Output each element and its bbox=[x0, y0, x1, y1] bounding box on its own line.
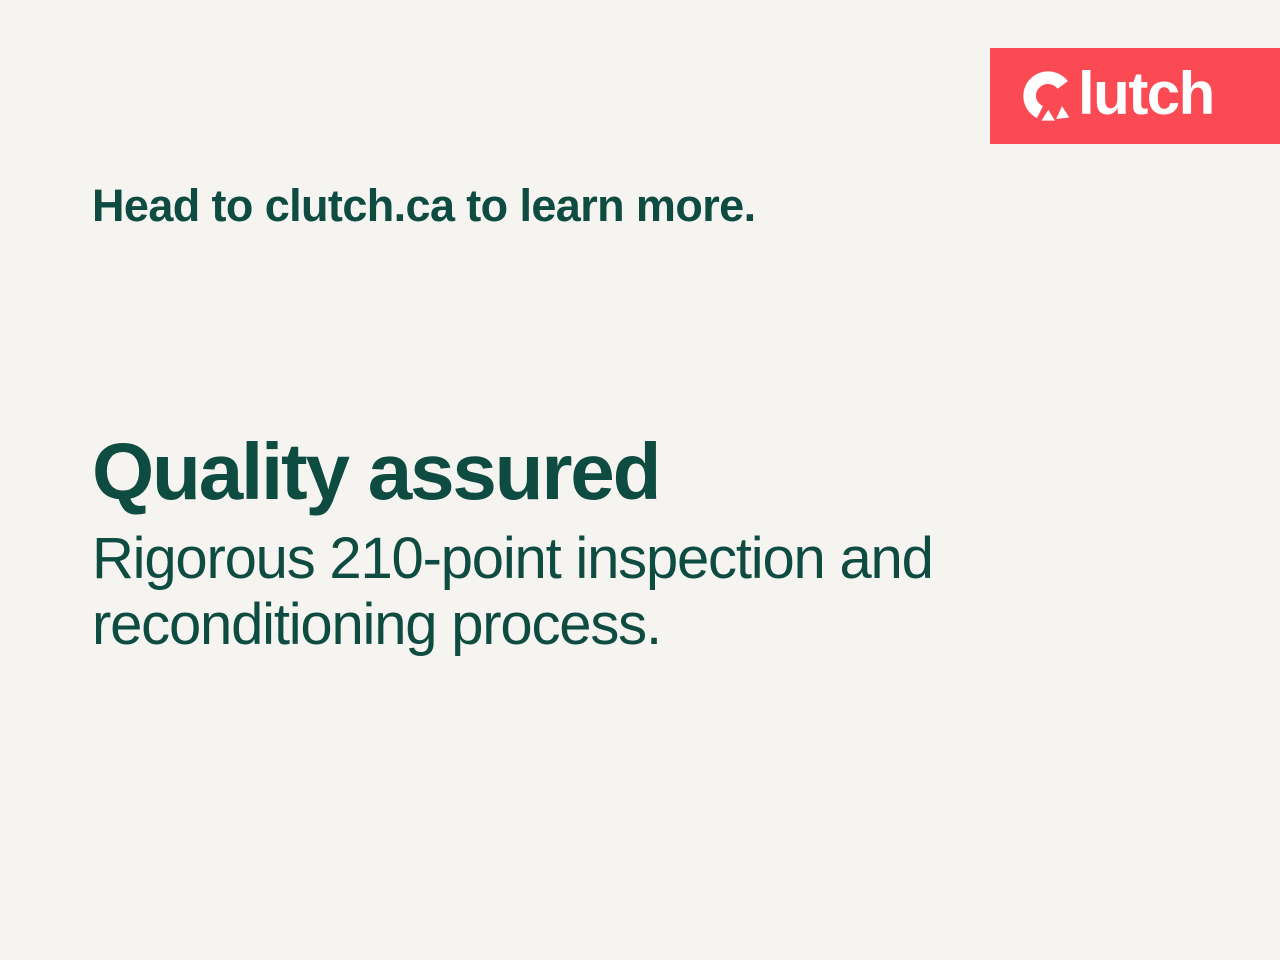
eyebrow-text: Head to clutch.ca to learn more. bbox=[92, 180, 755, 232]
clutch-wordmark: lutch bbox=[1078, 64, 1214, 124]
main-copy-block: Quality assured Rigorous 210-point inspe… bbox=[92, 432, 992, 658]
clutch-logo: lutch bbox=[1020, 66, 1214, 126]
brand-band: lutch bbox=[990, 48, 1280, 144]
clutch-c-mark-icon bbox=[1020, 68, 1076, 124]
slide-canvas: lutch Head to clutch.ca to learn more. Q… bbox=[0, 0, 1280, 960]
headline: Quality assured bbox=[92, 432, 992, 512]
subcopy: Rigorous 210-point inspection and recond… bbox=[92, 526, 952, 658]
